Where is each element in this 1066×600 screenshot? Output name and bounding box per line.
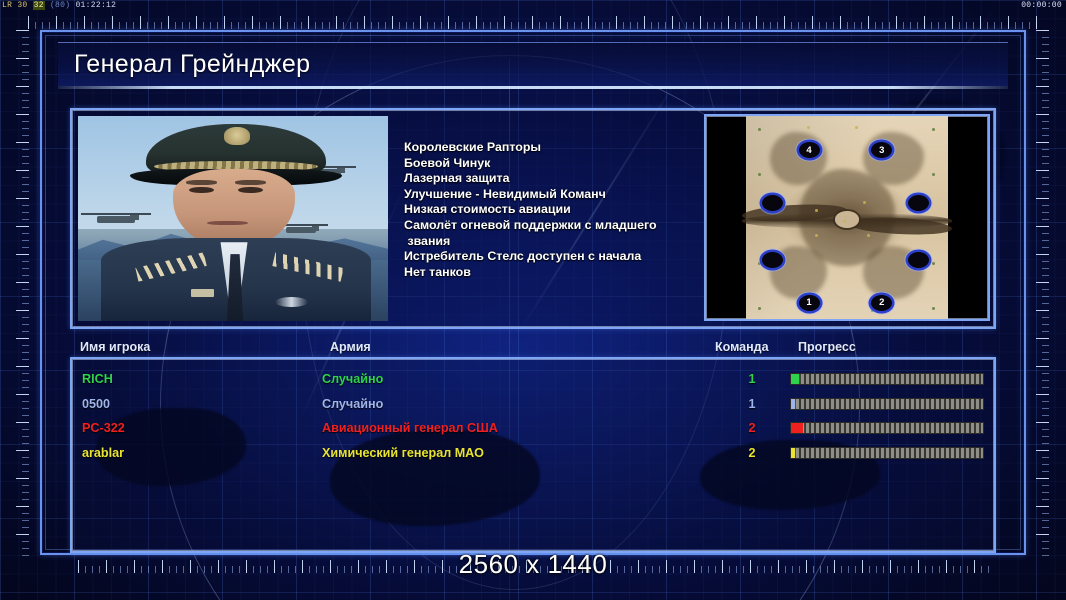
- minimap-start-position-4: 4: [799, 142, 820, 158]
- ability-line: Истребитель Стелс доступен с начала: [404, 249, 704, 265]
- general-figure: [134, 124, 339, 321]
- progress-bar: [790, 398, 984, 410]
- column-header-progress: Прогресс: [798, 340, 856, 354]
- ruler-right: [1036, 30, 1049, 558]
- player-team: 1: [737, 392, 767, 416]
- table-row[interactable]: 0500Случайно1: [72, 392, 994, 416]
- loading-screen-root: LR 30 32 (80) 01:22:12 00:00:00 Генерал …: [0, 0, 1066, 600]
- player-progress: [790, 367, 986, 391]
- status-prefix: LR: [2, 1, 12, 10]
- progress-bar-ticks: [791, 423, 983, 433]
- table-row[interactable]: RICHСлучайно1: [72, 367, 994, 391]
- brow-left: [186, 180, 217, 185]
- ability-line: Боевой Чинук: [404, 156, 704, 172]
- helicopter-icon-1: [97, 216, 135, 223]
- ability-line: Улучшение - Невидимый Команч: [404, 187, 704, 203]
- progress-bar: [790, 422, 984, 434]
- ability-line: Лазерная защита: [404, 171, 704, 187]
- minimap-start-position: [908, 252, 929, 268]
- network-status-text: LR 30 32 (80) 01:22:12: [2, 1, 116, 10]
- minimap-resource-dot: [758, 307, 761, 310]
- minimap-start-position: [762, 252, 783, 268]
- table-row[interactable]: PC-322Авиационный генерал США2: [72, 416, 994, 440]
- cap-eagle-badge: [224, 127, 251, 145]
- progress-bar-ticks: [791, 374, 983, 384]
- ruler-top: [28, 16, 1040, 29]
- minimap-resource-dot: [867, 234, 870, 237]
- minimap-start-position-1: 1: [799, 295, 820, 311]
- minimap-center-oasis: [835, 211, 859, 227]
- player-team: 2: [737, 441, 767, 465]
- column-header-army: Армия: [330, 340, 371, 354]
- table-row[interactable]: arablarХимический генерал МАО2: [72, 441, 994, 465]
- player-progress: [790, 392, 986, 416]
- ability-line: звания: [404, 234, 704, 250]
- match-minimap: 4312: [746, 116, 948, 319]
- progress-bar-ticks: [791, 448, 983, 458]
- title-bar: Генерал Грейнджер: [58, 42, 1008, 86]
- status-value-2: 32: [33, 1, 45, 10]
- ability-line: Низкая стоимость авиации: [404, 202, 704, 218]
- page-title: Генерал Грейнджер: [58, 50, 310, 79]
- general-portrait: [78, 116, 388, 321]
- ability-line: Самолёт огневой поддержки с младшего: [404, 218, 704, 234]
- column-header-player: Имя игрока: [80, 340, 150, 354]
- player-list-panel: RICHСлучайно10500Случайно1PC-322Авиацион…: [70, 357, 996, 553]
- minimap-resource-dot: [932, 262, 935, 265]
- progress-bar-fill: [791, 448, 795, 458]
- progress-bar-fill: [791, 399, 795, 409]
- progress-bar: [790, 447, 984, 459]
- player-name: PC-322: [82, 416, 125, 440]
- progress-bar-fill: [791, 423, 803, 433]
- player-table-header: Имя игрока Армия Команда Прогресс: [80, 340, 996, 356]
- player-progress: [790, 441, 986, 465]
- status-value-1: 30: [17, 1, 27, 10]
- minimap-start-position-2: 2: [871, 295, 892, 311]
- ability-line: Нет танков: [404, 265, 704, 281]
- minimap-resource-dot: [932, 173, 935, 176]
- minimap-resource-dot: [843, 220, 846, 223]
- ruler-left: [16, 30, 29, 558]
- minimap-resource-dot: [758, 173, 761, 176]
- title-underline: [58, 86, 1008, 89]
- minimap-resource-dot: [932, 128, 935, 131]
- progress-bar-fill: [791, 374, 799, 384]
- minimap-resource-dot: [758, 262, 761, 265]
- minimap-resource-dot: [855, 126, 858, 129]
- player-name: RICH: [82, 367, 113, 391]
- player-name: 0500: [82, 392, 110, 416]
- status-clock: 01:22:12: [75, 1, 116, 10]
- us-insignia: [191, 289, 214, 297]
- minimap-resource-dot: [932, 307, 935, 310]
- player-army: Случайно: [322, 367, 383, 391]
- minimap-resource-dot: [815, 234, 818, 237]
- progress-bar: [790, 373, 984, 385]
- player-team: 2: [737, 416, 767, 440]
- elapsed-timer: 00:00:00: [1021, 1, 1062, 10]
- minimap-start-position: [908, 195, 929, 211]
- general-abilities-list: Королевские Рапторы Боевой Чинук Лазерна…: [404, 140, 704, 280]
- player-team: 1: [737, 367, 767, 391]
- column-header-team: Команда: [715, 340, 769, 354]
- minimap-resource-dot: [871, 309, 874, 312]
- ruler-bottom: [78, 560, 990, 573]
- general-info-panel: Королевские Рапторы Боевой Чинук Лазерна…: [70, 108, 996, 329]
- player-army: Авиационный генерал США: [322, 416, 498, 440]
- minimap-resource-dot: [807, 126, 810, 129]
- status-ping: (80): [50, 1, 70, 10]
- player-name: arablar: [82, 441, 124, 465]
- player-progress: [790, 416, 986, 440]
- ability-line: Королевские Рапторы: [404, 140, 704, 156]
- player-army: Случайно: [322, 392, 383, 416]
- progress-bar-ticks: [791, 399, 983, 409]
- player-army: Химический генерал МАО: [322, 441, 484, 465]
- minimap-frame: 4312: [704, 114, 990, 321]
- minimap-resource-dot: [758, 128, 761, 131]
